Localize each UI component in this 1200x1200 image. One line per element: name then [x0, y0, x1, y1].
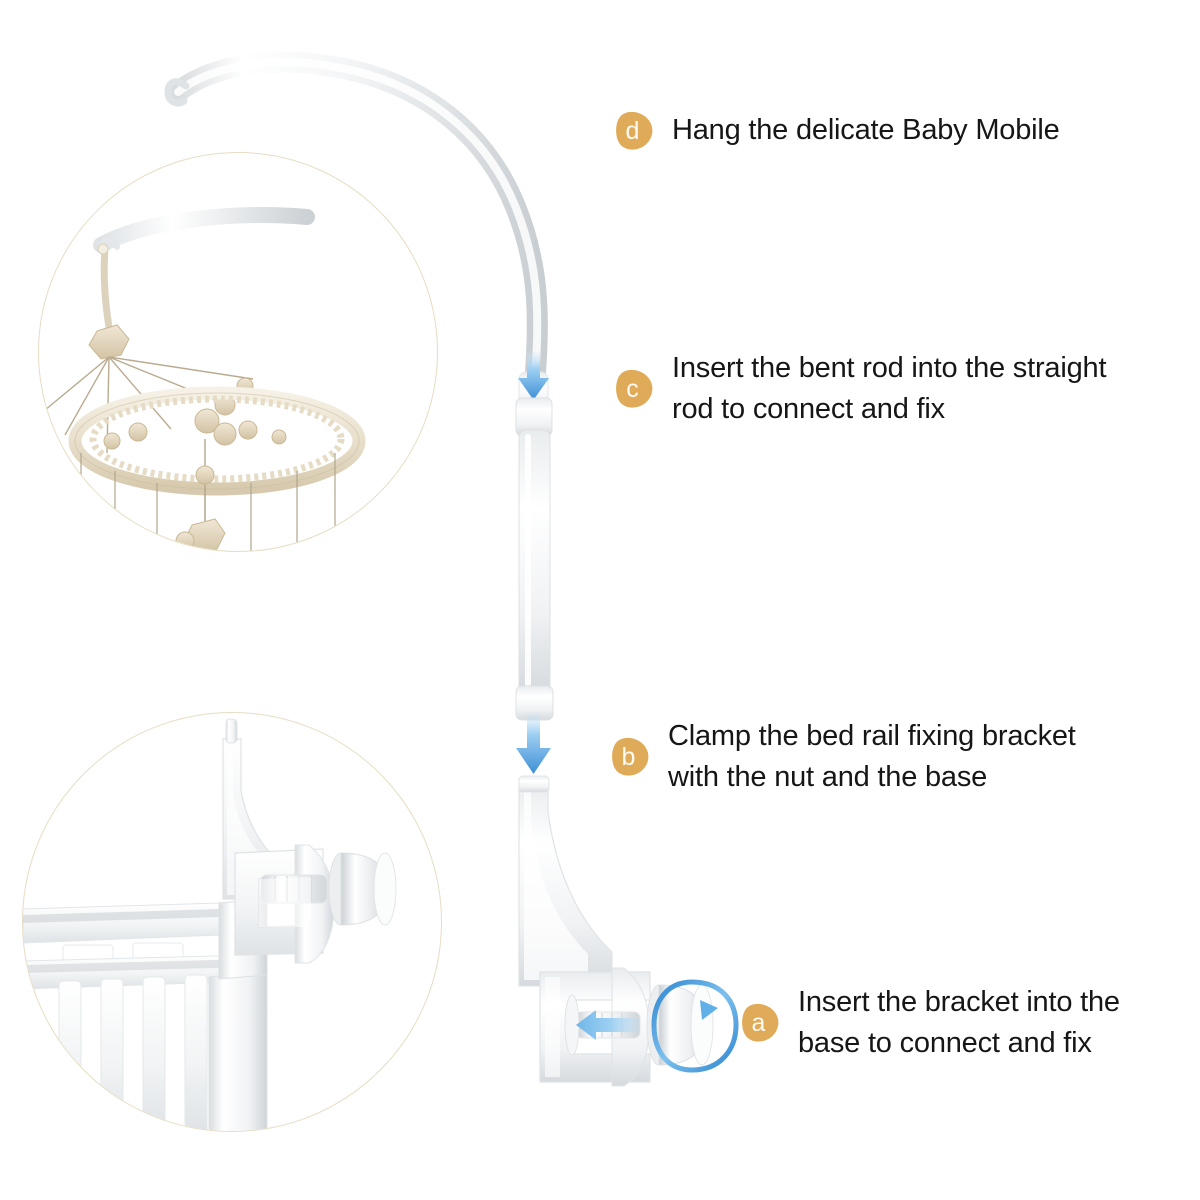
step-badge-letter-d: d	[612, 108, 658, 154]
step-b: b Clamp the bed rail fixing bracket with…	[608, 716, 1076, 798]
baby-mobile-artwork	[39, 153, 437, 551]
step-badge-a: a	[738, 1000, 784, 1046]
step-badge-letter-c: c	[612, 366, 658, 412]
step-text-a: Insert the bracket into the base to conn…	[798, 982, 1120, 1064]
rotate-arrow-ellipse-a	[654, 982, 736, 1070]
nut-knob-part	[647, 985, 713, 1065]
base-part	[540, 968, 713, 1086]
step-text-d: Hang the delicate Baby Mobile	[672, 110, 1060, 151]
straight-rod-part	[516, 398, 553, 720]
step-a: a Insert the bracket into the base to co…	[738, 982, 1120, 1064]
step-text-c: Insert the bent rod into the straight ro…	[672, 348, 1106, 430]
inset-crib-rail-bracket	[22, 712, 442, 1132]
step-c: c Insert the bent rod into the straight …	[612, 348, 1106, 430]
inset-baby-mobile	[38, 152, 438, 552]
step-badge-b: b	[608, 734, 654, 780]
step-text-b: Clamp the bed rail fixing bracket with t…	[668, 716, 1076, 798]
step-d: d Hang the delicate Baby Mobile	[612, 108, 1060, 154]
insert-arrow-down-c	[518, 352, 549, 400]
instruction-diagram: d Hang the delicate Baby Mobile c Insert…	[0, 0, 1200, 1200]
step-badge-d: d	[612, 108, 658, 154]
step-badge-c: c	[612, 366, 658, 412]
insert-arrow-down-b	[516, 712, 551, 774]
insert-arrow-left-a	[576, 1010, 640, 1040]
step-badge-letter-b: b	[608, 734, 654, 780]
step-badge-letter-a: a	[738, 1000, 784, 1046]
bed-rail-fixing-bracket-part	[519, 776, 612, 986]
crib-rail-bracket-artwork	[23, 713, 441, 1131]
